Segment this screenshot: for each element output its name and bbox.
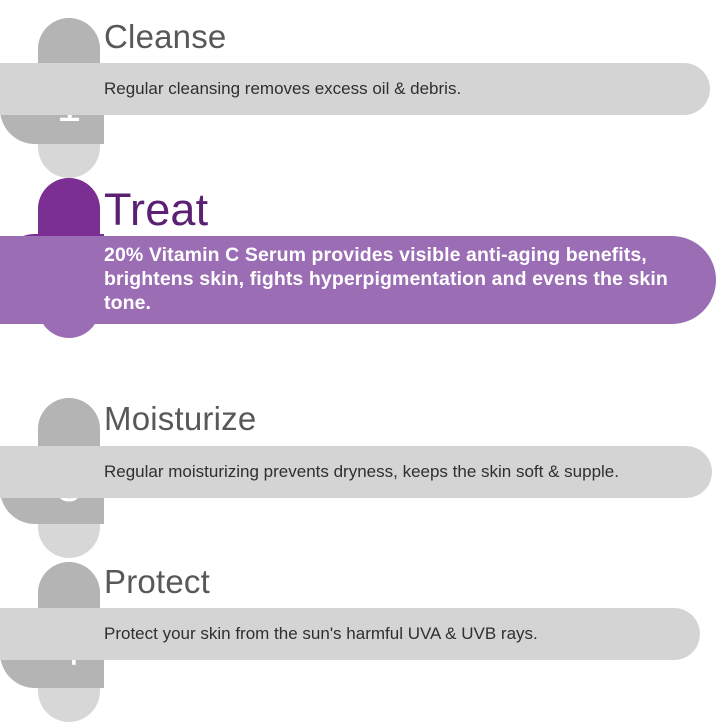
step-title-2: Treat: [104, 184, 208, 236]
step-description-bar-2: 20% Vitamin C Serum provides visible ant…: [0, 236, 716, 324]
step-description-bar-1: Regular cleansing removes excess oil & d…: [0, 63, 710, 115]
step-description-bar-4: Protect your skin from the sun's harmful…: [0, 608, 700, 660]
step-description-text-2: 20% Vitamin C Serum provides visible ant…: [0, 244, 716, 316]
step-description-text-4: Protect your skin from the sun's harmful…: [0, 623, 554, 646]
step-description-text-3: Regular moisturizing prevents dryness, k…: [0, 461, 635, 484]
skincare-routine-infographic: 1 Cleanse Regular cleansing removes exce…: [0, 0, 720, 720]
step-title-3: Moisturize: [104, 400, 256, 438]
step-title-4: Protect: [104, 563, 210, 601]
step-description-bar-3: Regular moisturizing prevents dryness, k…: [0, 446, 712, 498]
step-description-text-1: Regular cleansing removes excess oil & d…: [0, 78, 477, 101]
step-title-1: Cleanse: [104, 18, 226, 56]
